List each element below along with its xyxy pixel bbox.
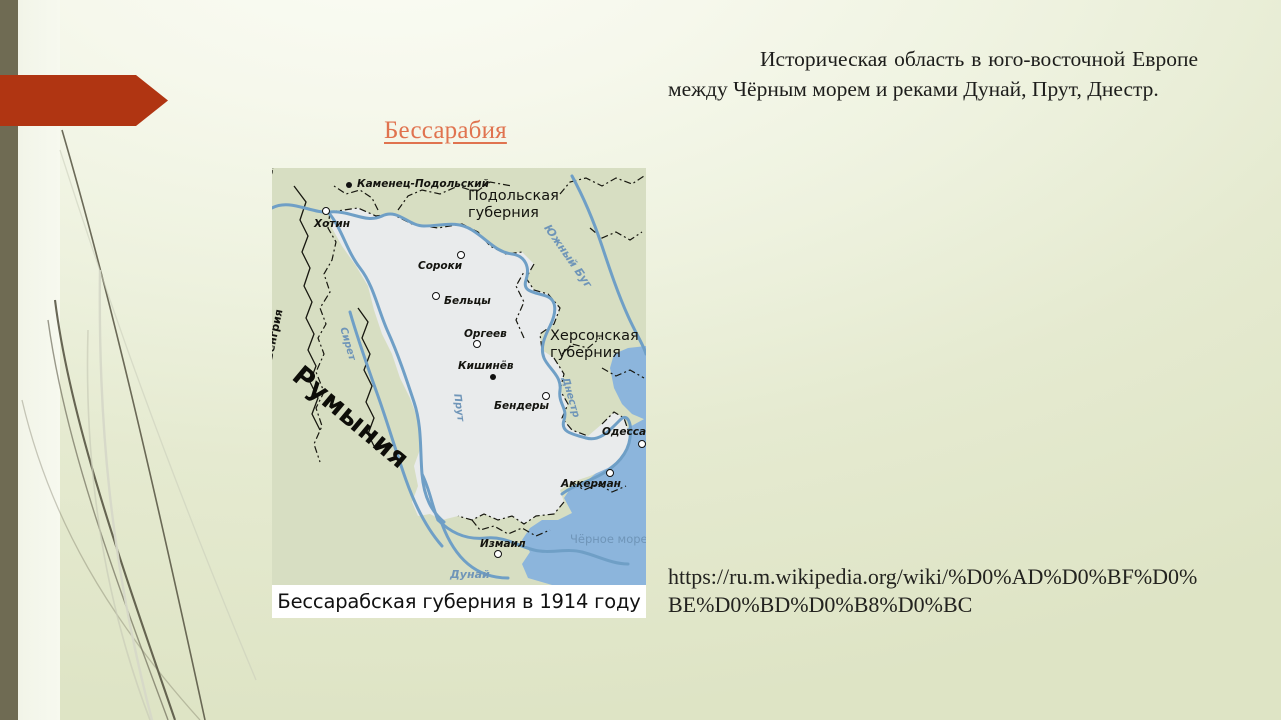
- map-marker-khotin: [322, 207, 330, 215]
- map-label-black-sea: Чёрное море: [570, 532, 646, 546]
- map-marker-soroki: [457, 251, 465, 259]
- map-figure[interactable]: Подольская губерния Херсонская губерния …: [272, 168, 646, 618]
- map-marker-orgeev: [473, 340, 481, 348]
- map-label-orgeev: Оргеев: [464, 328, 507, 340]
- map-label-line: губерния: [550, 345, 621, 361]
- map-label-line: губерния: [468, 205, 539, 221]
- map-label-izmail: Измаил: [480, 538, 526, 550]
- map-label-akkerman: Аккерман: [561, 478, 621, 490]
- map-label-soroki: Сороки: [418, 260, 462, 272]
- map-label-kherson-governorate: Херсонская губерния: [550, 328, 639, 362]
- map-marker-odessa: [638, 440, 646, 448]
- body-paragraph: Историческая область в юго-восточной Евр…: [668, 44, 1198, 104]
- map-vector: [272, 168, 646, 585]
- map-label-beltsy: Бельцы: [444, 295, 491, 307]
- map-marker-kishinev: [490, 374, 496, 380]
- map-caption: Бессарабская губерния в 1914 году: [272, 585, 646, 618]
- page-title: Бессарабия: [384, 117, 507, 145]
- source-url: https://ru.m.wikipedia.org/wiki/%D0%AD%D…: [668, 563, 1208, 619]
- map-label-odessa: Одесса: [602, 426, 646, 438]
- map-image: Подольская губерния Херсонская губерния …: [272, 168, 646, 585]
- map-marker-kamenets: [346, 182, 352, 188]
- map-label-kishinev: Кишинёв: [458, 360, 513, 372]
- accent-arrow-banner: [0, 75, 168, 126]
- slide-canvas: Бессарабия Историческая область в юго-во…: [0, 0, 1281, 720]
- map-label-khotin: Хотин: [314, 218, 350, 230]
- map-label-podolsk-governorate: Подольская губерния: [468, 188, 559, 222]
- map-marker-akkerman: [606, 469, 614, 477]
- map-label-line: Херсонская: [550, 328, 639, 344]
- map-label-kamenets-podolsky: Каменец-Подольский: [357, 178, 489, 190]
- map-label-danube: Дунай: [450, 568, 490, 581]
- map-label-bendery: Бендеры: [494, 400, 549, 412]
- map-label-line: Подольская: [468, 188, 559, 204]
- map-marker-beltsy: [432, 292, 440, 300]
- map-marker-izmail: [494, 550, 502, 558]
- map-marker-bendery: [542, 392, 550, 400]
